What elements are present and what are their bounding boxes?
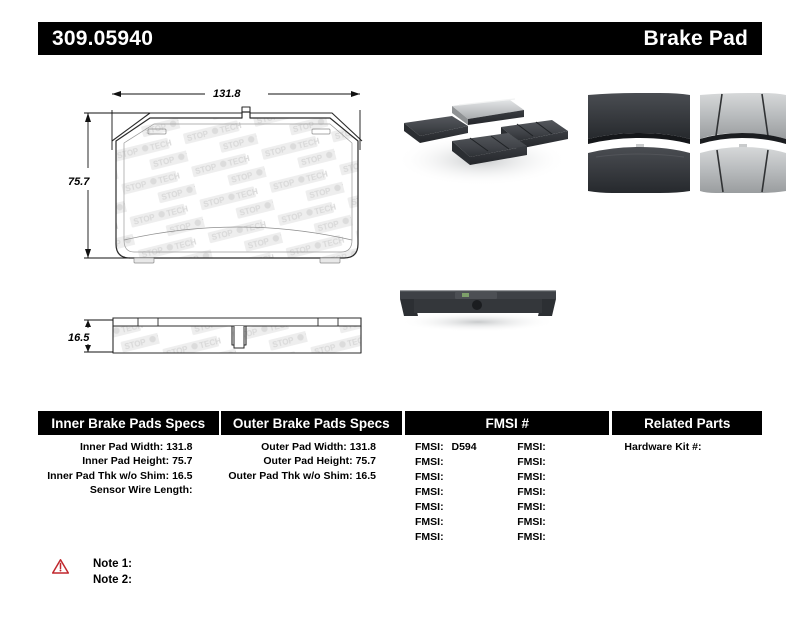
related-parts-label: Hardware Kit #: bbox=[624, 441, 701, 453]
fmsi-label: FMSI: bbox=[415, 441, 444, 453]
spec-label: Outer Pad Thk w/o Shim: bbox=[228, 470, 352, 482]
spec-row: Outer Pad Thk w/o Shim: 16.5 bbox=[221, 469, 403, 483]
fmsi-label: FMSI: bbox=[517, 516, 546, 528]
spec-row: Inner Pad Thk w/o Shim: 16.5 bbox=[38, 469, 219, 483]
fmsi-label: FMSI: bbox=[517, 441, 546, 453]
spec-value: 131.8 bbox=[166, 441, 192, 453]
fmsi-row: FMSI: bbox=[405, 485, 507, 500]
fmsi-row: FMSI: bbox=[507, 515, 609, 530]
notes-section: Note 1: Note 2: bbox=[52, 556, 132, 588]
spec-row: Inner Pad Width: 131.8 bbox=[38, 440, 219, 454]
page-title: Brake Pad bbox=[643, 28, 748, 49]
fmsi-row: FMSI: bbox=[405, 515, 507, 530]
fmsi-value: D594 bbox=[452, 441, 477, 453]
column-header-outer-specs: Outer Brake Pads Specs bbox=[221, 411, 403, 435]
fmsi-row: FMSI: bbox=[507, 440, 609, 455]
note-text-group: Note 1: Note 2: bbox=[93, 556, 132, 588]
specifications-table: Inner Brake Pads Specs Outer Brake Pads … bbox=[38, 411, 762, 545]
spec-row: Outer Pad Height: 75.7 bbox=[221, 454, 403, 468]
note-line-1: Note 1: bbox=[93, 556, 132, 572]
related-parts-column: Hardware Kit #: bbox=[612, 440, 762, 545]
spec-row: Sensor Wire Length: bbox=[38, 483, 219, 497]
spec-label: Inner Pad Thk w/o Shim: bbox=[47, 470, 169, 482]
column-header-inner-specs: Inner Brake Pads Specs bbox=[38, 411, 219, 435]
product-photo-four-pads bbox=[396, 99, 568, 186]
spec-value: 131.8 bbox=[350, 441, 376, 453]
dimension-thickness-label: 16.5 bbox=[68, 332, 89, 344]
part-number: 309.05940 bbox=[52, 28, 153, 49]
fmsi-label: FMSI: bbox=[517, 471, 546, 483]
brake-pad-spec-sheet: 309.05940 Brake Pad STOP TECH STOP TECH bbox=[0, 0, 800, 619]
spec-value: 16.5 bbox=[172, 470, 192, 482]
fmsi-subcolumn-right: FMSI: FMSI: FMSI: FMSI: bbox=[507, 440, 609, 545]
fmsi-label: FMSI: bbox=[517, 456, 546, 468]
spec-label: Outer Pad Width: bbox=[261, 441, 347, 453]
fmsi-row: FMSI: bbox=[507, 470, 609, 485]
table-header-row: Inner Brake Pads Specs Outer Brake Pads … bbox=[38, 411, 762, 435]
fmsi-label: FMSI: bbox=[517, 501, 546, 513]
spec-label: Inner Pad Height: bbox=[82, 455, 169, 467]
spec-value: 75.7 bbox=[356, 455, 376, 467]
column-header-related-parts: Related Parts bbox=[612, 411, 762, 435]
fmsi-row: FMSI: bbox=[507, 500, 609, 515]
spec-value: 16.5 bbox=[356, 470, 376, 482]
fmsi-row: FMSI: bbox=[405, 500, 507, 515]
inner-specs-column: Inner Pad Width: 131.8 Inner Pad Height:… bbox=[38, 440, 219, 545]
related-parts-row: Hardware Kit #: bbox=[612, 440, 762, 455]
fmsi-row: FMSI: bbox=[405, 530, 507, 545]
fmsi-subcolumn-left: FMSI: D594 FMSI: FMSI: FMSI: bbox=[405, 440, 507, 545]
dimension-height-label: 75.7 bbox=[68, 176, 89, 188]
spec-label: Outer Pad Height: bbox=[263, 455, 352, 467]
warning-triangle-icon bbox=[52, 559, 69, 574]
note-line-2: Note 2: bbox=[93, 572, 132, 588]
spec-label: Sensor Wire Length: bbox=[90, 484, 193, 496]
fmsi-label: FMSI: bbox=[415, 501, 444, 513]
spec-label: Inner Pad Width: bbox=[80, 441, 163, 453]
fmsi-column: FMSI: D594 FMSI: FMSI: FMSI: bbox=[405, 440, 609, 545]
outer-specs-column: Outer Pad Width: 131.8 Outer Pad Height:… bbox=[221, 440, 403, 545]
fmsi-row: FMSI: bbox=[507, 530, 609, 545]
fmsi-row: FMSI: bbox=[507, 485, 609, 500]
table-body: Inner Pad Width: 131.8 Inner Pad Height:… bbox=[38, 440, 762, 545]
column-header-fmsi: FMSI # bbox=[405, 411, 609, 435]
fmsi-label: FMSI: bbox=[415, 531, 444, 543]
spec-row: Outer Pad Width: 131.8 bbox=[221, 440, 403, 454]
fmsi-label: FMSI: bbox=[517, 486, 546, 498]
header-bar: 309.05940 Brake Pad bbox=[38, 22, 762, 55]
fmsi-row: FMSI: bbox=[405, 470, 507, 485]
fmsi-row: FMSI: bbox=[507, 455, 609, 470]
product-photo-pad-grid bbox=[588, 93, 786, 193]
fmsi-label: FMSI: bbox=[415, 471, 444, 483]
product-photo-pad-edge bbox=[400, 291, 556, 332]
spec-row: Inner Pad Height: 75.7 bbox=[38, 454, 219, 468]
fmsi-label: FMSI: bbox=[415, 486, 444, 498]
fmsi-label: FMSI: bbox=[415, 456, 444, 468]
spec-value: 75.7 bbox=[172, 455, 192, 467]
fmsi-label: FMSI: bbox=[415, 516, 444, 528]
fmsi-row: FMSI: bbox=[405, 455, 507, 470]
fmsi-row: FMSI: D594 bbox=[405, 440, 507, 455]
dimension-width-label: 131.8 bbox=[213, 88, 241, 100]
fmsi-label: FMSI: bbox=[517, 531, 546, 543]
